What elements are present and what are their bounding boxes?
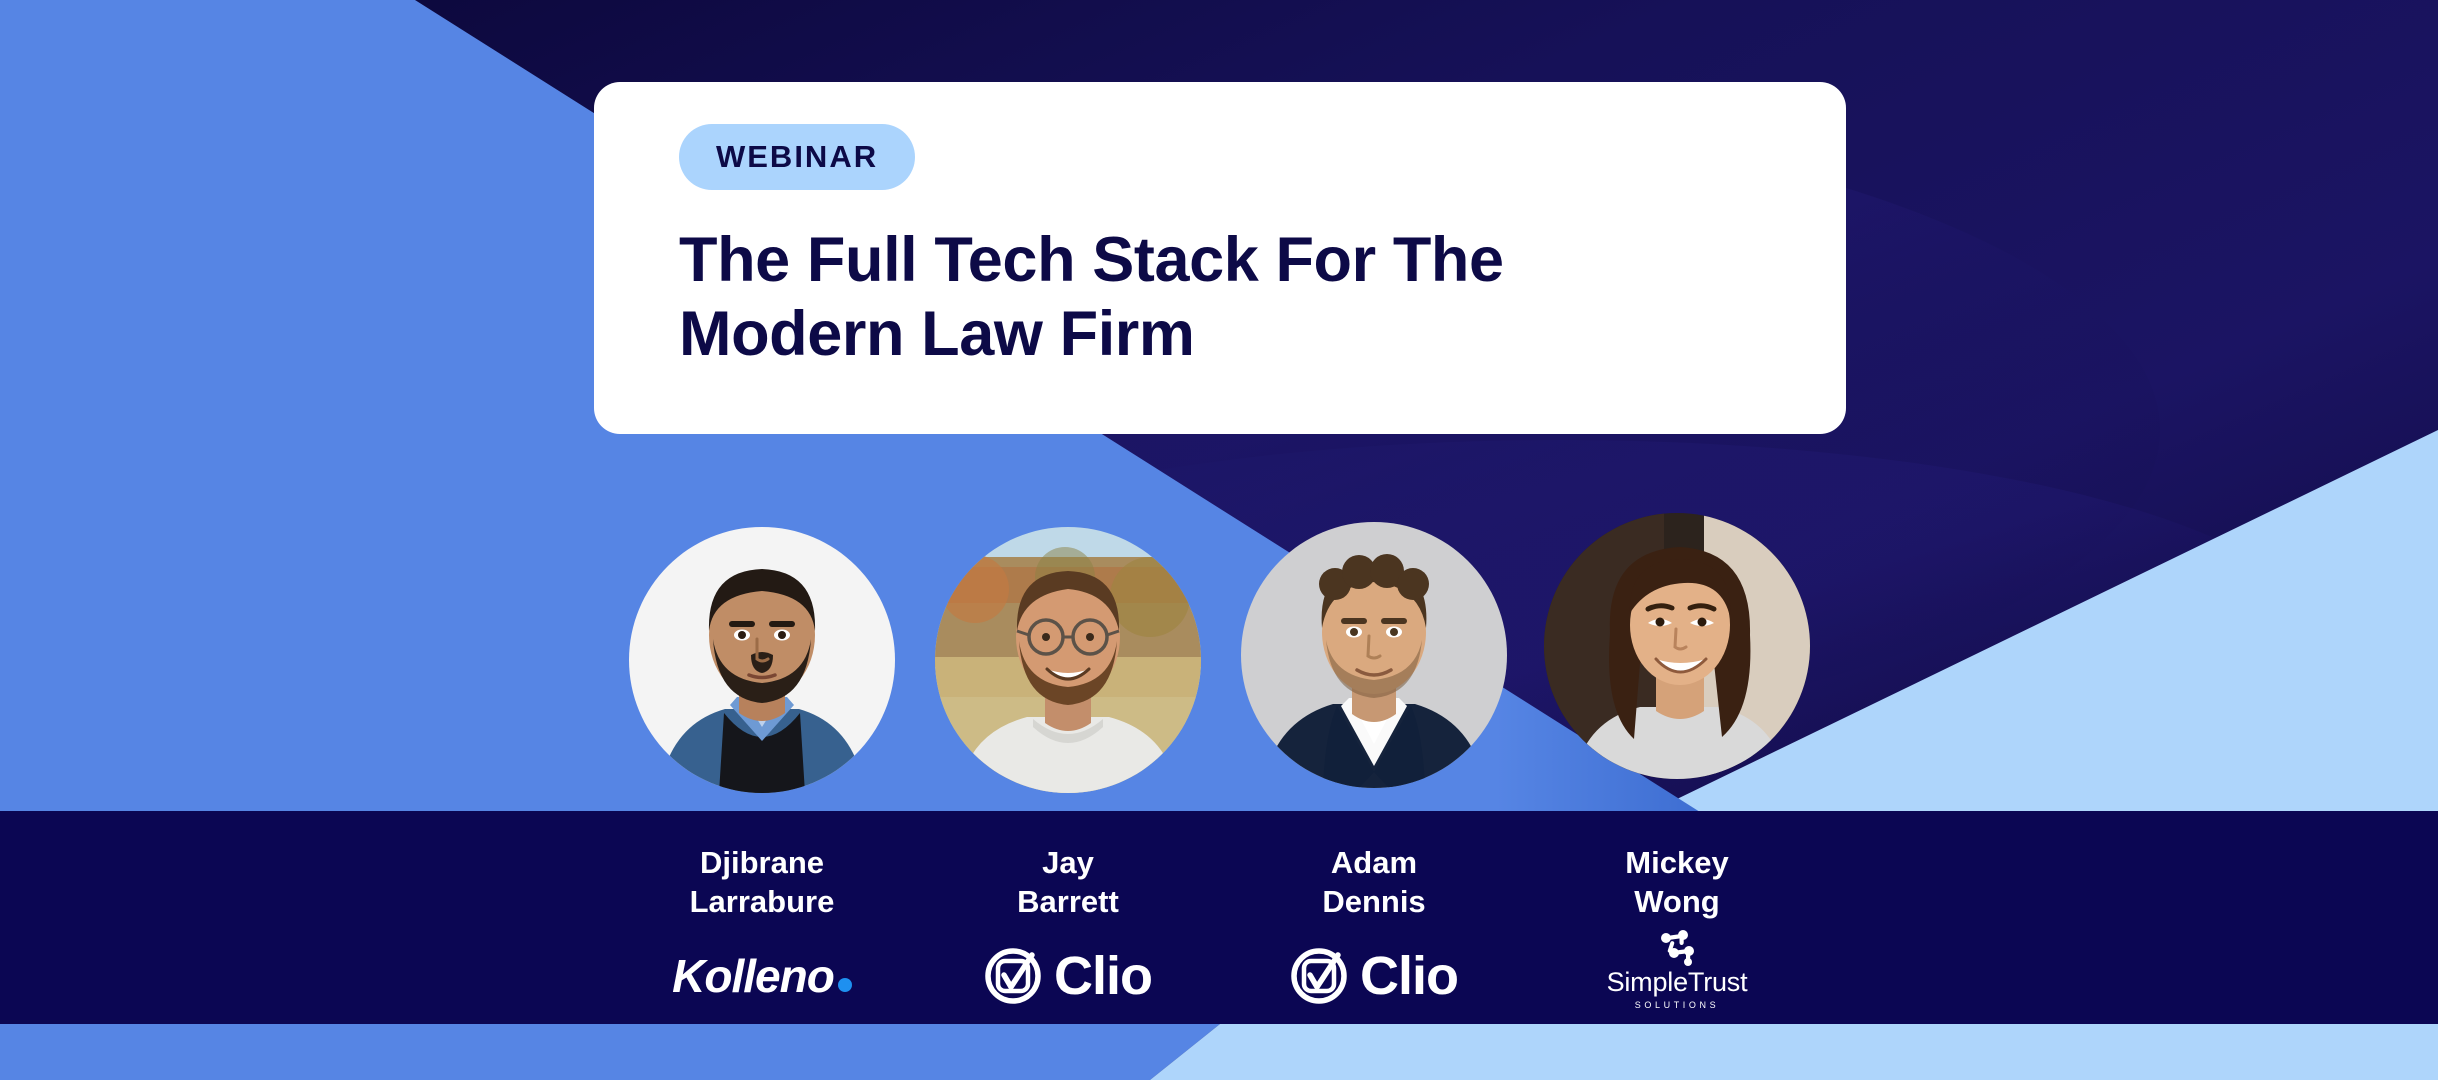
bottom-strip-blue [0,1024,1220,1080]
speaker-last-name-2: Dennis [1224,883,1524,922]
avatar-mickey-wong [1544,513,1810,779]
speaker-name-3: Mickey Wong [1527,844,1827,922]
speaker-last-name-1: Barrett [918,883,1218,922]
avatar-jay-barrett [935,527,1201,793]
speaker-first-name-2: Adam [1224,844,1524,883]
speaker-last-name-0: Larrabure [612,883,912,922]
speaker-name-2: Adam Dennis [1224,844,1524,922]
webinar-promo-banner: WEBINAR The Full Tech Stack For The Mode… [0,0,2438,1080]
page-title-line-1: The Full Tech Stack For The [679,225,1504,295]
kolleno-wordmark-text: Kolleno [672,950,834,1002]
speaker-card-1: Jay Barrett Clio [918,811,1218,1007]
speaker-first-name-1: Jay [918,844,1218,883]
clio-checkmark-icon [1290,947,1348,1005]
speaker-card-3: Mickey Wong [1527,811,1827,1008]
kolleno-dot-icon [838,978,852,992]
simpletrust-mark-icon [1657,929,1697,967]
simpletrust-subtitle-text: SOLUTIONS [1635,1001,1719,1010]
speaker-bar: Djibrane Larrabure Kolleno Jay Barrett [0,811,2438,1024]
speaker-card-2: Adam Dennis Clio [1224,811,1524,1007]
speaker-first-name-3: Mickey [1527,844,1827,883]
clio-checkmark-icon [984,947,1042,1005]
page-title-line-2: Modern Law Firm [679,299,1195,369]
webinar-badge: WEBINAR [679,124,915,190]
clio-logo: Clio [918,945,1218,1007]
bottom-strip-light-blue [1150,1024,2438,1080]
speaker-last-name-3: Wong [1527,883,1827,922]
avatar-djibrane-larrabure [629,527,895,793]
speaker-first-name-0: Djibrane [612,844,912,883]
clio-wordmark-text: Clio [1054,949,1152,1003]
title-card: WEBINAR The Full Tech Stack For The Mode… [594,82,1846,434]
simpletrust-wordmark-text: SimpleTrust [1607,969,1748,996]
simpletrust-logo: SimpleTrust SOLUTIONS [1527,932,1827,1008]
kolleno-logo: Kolleno [612,945,912,1007]
speaker-name-1: Jay Barrett [918,844,1218,922]
clio-logo: Clio [1224,945,1524,1007]
avatar-adam-dennis [1241,522,1507,788]
speaker-card-0: Djibrane Larrabure Kolleno [612,811,912,1007]
speaker-name-0: Djibrane Larrabure [612,844,912,922]
clio-wordmark-text: Clio [1360,949,1458,1003]
page-title: The Full Tech Stack For The Modern Law F… [679,223,1679,372]
